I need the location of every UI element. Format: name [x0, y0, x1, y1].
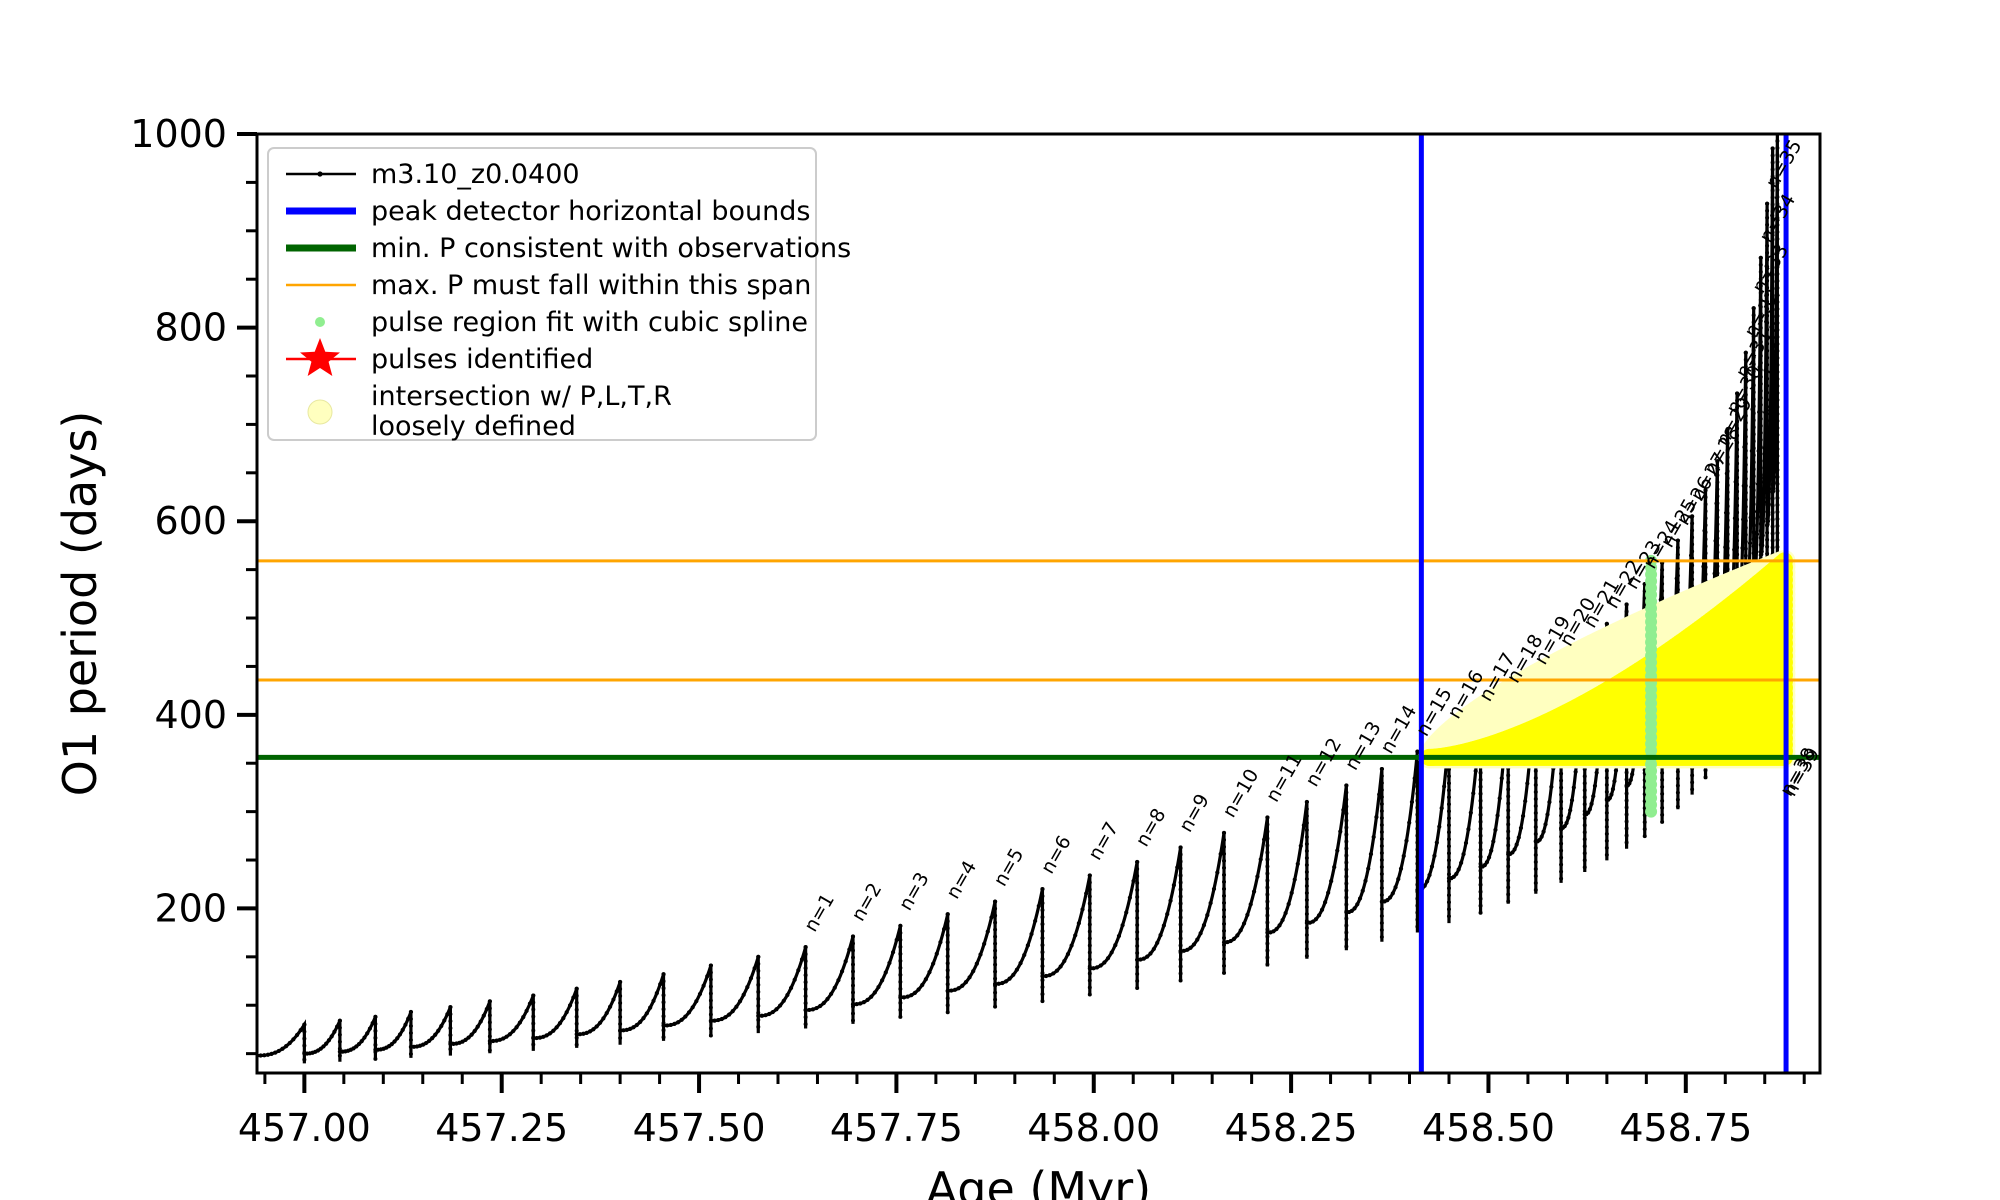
figure-canvas: n=1n=2n=3n=4n=5n=6n=7n=8n=9n=10n=11n=12n…: [0, 0, 2000, 1200]
chart-svg: n=1n=2n=3n=4n=5n=6n=7n=8n=9n=10n=11n=12n…: [0, 0, 2000, 1200]
